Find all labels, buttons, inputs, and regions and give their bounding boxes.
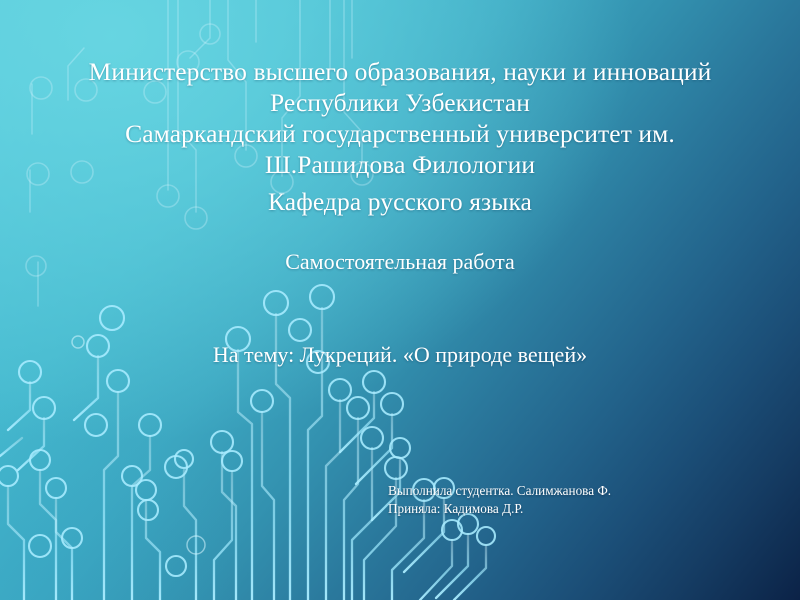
heading-line-2: Республики Узбекистан: [0, 87, 800, 118]
heading-line-5: Кафедра русского языка: [0, 186, 800, 217]
heading-line-1: Министерство высшего образования, науки …: [0, 56, 800, 87]
heading-line-4: Ш.Рашидова Филологии: [0, 149, 800, 180]
heading-line-3: Самаркандский государственный университе…: [0, 118, 800, 149]
credit-author: Выполнила студентка. Салимжанова Ф.: [388, 482, 768, 501]
credit-supervisor: Приняла: Кадимова Д.Р.: [388, 500, 768, 519]
slide-text-layer: Министерство высшего образования, науки …: [0, 0, 800, 600]
work-type-label: Самостоятельная работа: [0, 248, 800, 276]
topic-title: На тему: Лукреций. «О природе вещей»: [0, 341, 800, 369]
title-slide: Министерство высшего образования, науки …: [0, 0, 800, 600]
